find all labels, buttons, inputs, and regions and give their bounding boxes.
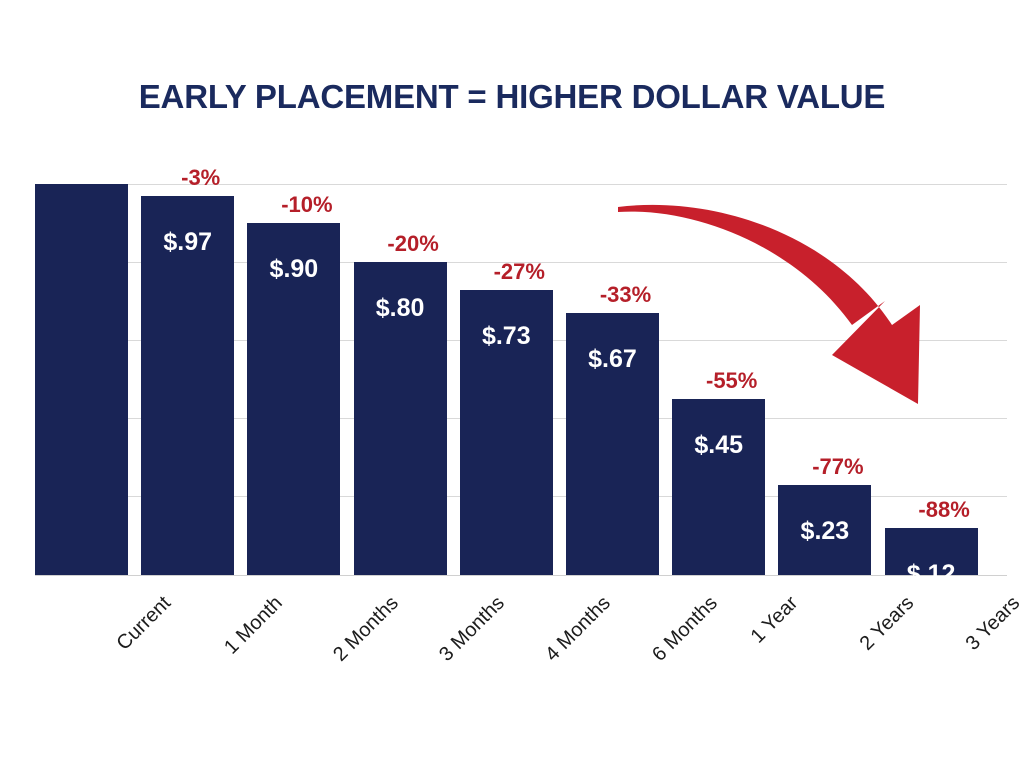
bar-value-label: $.12: [885, 560, 978, 589]
bar-value-label: $.67: [566, 345, 659, 374]
bar-delta-label: -20%: [367, 231, 460, 257]
bar-delta-label: -3%: [154, 165, 247, 191]
bar-1-year: [672, 399, 765, 575]
x-axis-label-1-year: 1 Year: [746, 592, 802, 648]
x-axis-label-6-months: 6 Months: [648, 592, 722, 666]
bar-delta-label: -10%: [260, 192, 353, 218]
x-axis-baseline: [35, 575, 1007, 576]
x-axis-label-1-month: 1 Month: [220, 592, 287, 659]
chart-canvas: EARLY PLACEMENT = HIGHER DOLLAR VALUE $.…: [0, 0, 1024, 768]
bar-delta-label: -27%: [473, 259, 566, 285]
bar-delta-label: -77%: [791, 454, 884, 480]
bar-delta-label: -55%: [685, 368, 778, 394]
x-axis-label-current: Current: [112, 592, 175, 655]
x-axis-label-2-months: 2 Months: [329, 592, 403, 666]
bar-delta-label: -88%: [898, 497, 991, 523]
plot-area: $.97-3%$.90-10%$.80-20%$.73-27%$.67-33%$…: [0, 0, 1024, 768]
bar-value-label: $.97: [141, 228, 234, 257]
bar-value-label: $.45: [672, 431, 765, 460]
bar-delta-label: -33%: [579, 282, 672, 308]
bar-current: [35, 184, 128, 575]
bar-value-label: $.90: [247, 255, 340, 284]
x-axis-label-3-months: 3 Months: [435, 592, 509, 666]
x-axis-label-2-years: 2 Years: [856, 592, 919, 655]
bar-value-label: $.73: [460, 322, 553, 351]
x-axis-label-4-months: 4 Months: [542, 592, 616, 666]
bar-value-label: $.80: [354, 294, 447, 323]
x-axis-label-3-years: 3 Years: [962, 592, 1024, 655]
bar-value-label: $.23: [778, 517, 871, 546]
